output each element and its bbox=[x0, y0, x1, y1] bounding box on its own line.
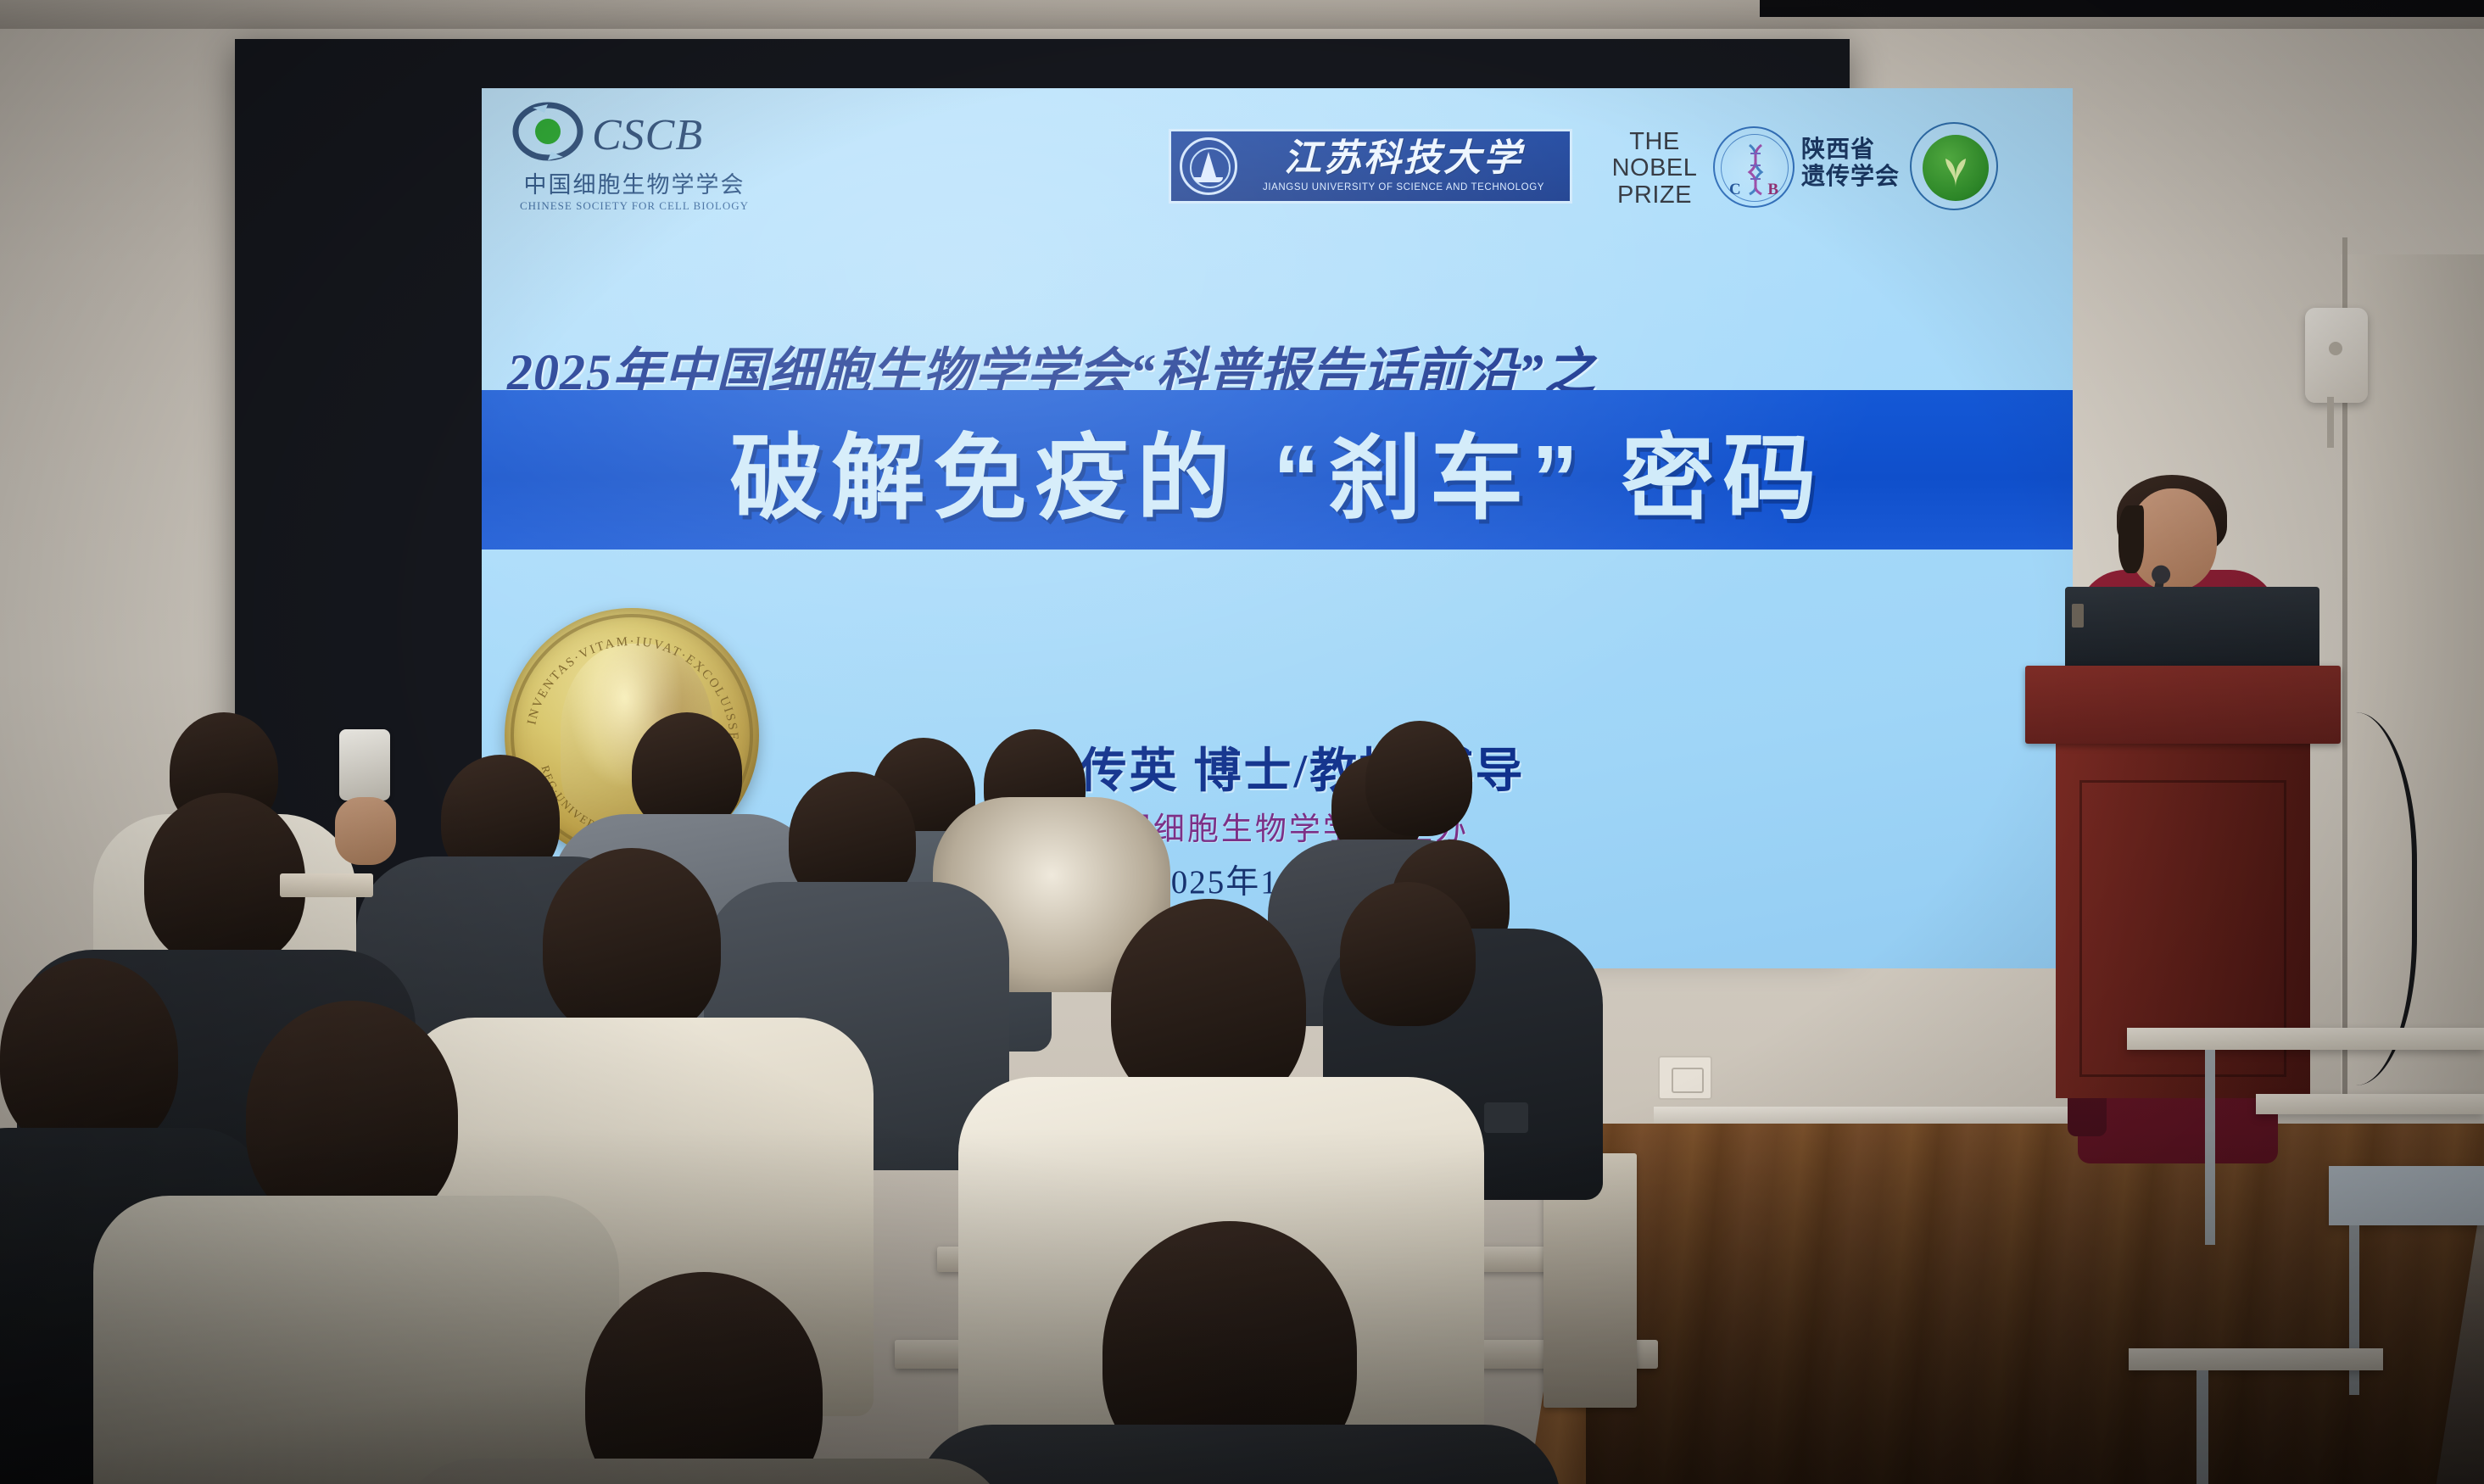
phone-holder-hand bbox=[335, 797, 396, 865]
ceiling-dark-panel bbox=[1760, 0, 2484, 17]
jiangsu-ship-seal-icon bbox=[1180, 137, 1237, 195]
audience-head bbox=[0, 958, 178, 1153]
wall-mounted-speaker-icon bbox=[2305, 308, 2368, 403]
audience-torso-grey bbox=[93, 1196, 619, 1484]
jiangsu-university-logo: 江苏科技大学 JIANGSU UNIVERSITY OF SCIENCE AND… bbox=[1169, 129, 1572, 204]
wheat-leaf-icon bbox=[1941, 152, 1970, 187]
shaanxi-genetics-text: 陕西省 遗传学会 bbox=[1801, 136, 1900, 190]
podium-top bbox=[2025, 666, 2341, 744]
audience-torso-grey bbox=[399, 1459, 1009, 1484]
jiangsu-chinese-name: 江苏科技大学 bbox=[1237, 140, 1570, 177]
nwafu-ring-icon bbox=[1910, 122, 1998, 210]
cscb-logo: CSCB 中国细胞生物学学会 CHINESE SOCIETY FOR CELL … bbox=[507, 98, 762, 213]
lecture-hall-scene: CSCB 中国细胞生物学学会 CHINESE SOCIETY FOR CELL … bbox=[0, 0, 2484, 1484]
slide-title-band: 破解免疫的 “刹车” 密码 bbox=[482, 390, 2073, 550]
nobel-prize-logo: THE NOBEL PRIZE bbox=[1599, 129, 1710, 209]
presenter-hair-side bbox=[2118, 505, 2144, 573]
audience-head bbox=[632, 712, 742, 831]
cscb-letters: CSCB bbox=[592, 110, 703, 160]
presenter-laptop bbox=[2065, 587, 2319, 668]
nobel-line-2: NOBEL bbox=[1599, 155, 1710, 181]
slide-title: 破解免疫的 “刹车” 密码 bbox=[729, 402, 1824, 538]
sail-icon bbox=[1201, 152, 1216, 177]
notebook-on-desk bbox=[280, 873, 373, 897]
nobel-line-3: PRIZE bbox=[1599, 182, 1710, 209]
genetics-seal-letter-c: C bbox=[1729, 181, 1741, 199]
nwafu-core-icon bbox=[1923, 135, 1989, 201]
laptop-port bbox=[2072, 604, 2084, 628]
cscb-chinese-name: 中国细胞生物学学会 bbox=[507, 166, 762, 199]
speaker-mount-arm bbox=[2327, 397, 2334, 448]
audience-torso bbox=[916, 1425, 1560, 1484]
cscb-mark-icon: CSCB bbox=[507, 98, 762, 165]
device-on-bench bbox=[1484, 1102, 1528, 1133]
cscb-english-name: CHINESE SOCIETY FOR CELL BIOLOGY bbox=[507, 199, 762, 213]
audience-head bbox=[543, 848, 721, 1039]
shaanxi-line-1: 陕西省 bbox=[1801, 136, 1900, 163]
shaanxi-line-2: 遗传学会 bbox=[1801, 163, 1900, 190]
raised-phone bbox=[339, 729, 390, 801]
genetics-seal-letter-b: B bbox=[1767, 181, 1778, 199]
audience-head bbox=[1367, 721, 1472, 836]
shaanxi-genetics-society-logo: C B 陕西省 遗传学会 bbox=[1713, 124, 1900, 213]
northwest-agriculture-university-logo bbox=[1910, 122, 1998, 210]
audience-head bbox=[1340, 882, 1476, 1026]
jiangsu-text-block: 江苏科技大学 JIANGSU UNIVERSITY OF SCIENCE AND… bbox=[1237, 140, 1570, 192]
slide-logo-row: CSCB 中国细胞生物学学会 CHINESE SOCIETY FOR CELL … bbox=[482, 88, 2073, 241]
nobel-line-1: THE bbox=[1599, 129, 1710, 155]
audience-area bbox=[0, 746, 2484, 1484]
hull-icon bbox=[1194, 177, 1223, 182]
jiangsu-english-name: JIANGSU UNIVERSITY OF SCIENCE AND TECHNO… bbox=[1237, 182, 1570, 192]
dna-helix-icon bbox=[1745, 143, 1766, 196]
genetics-seal-icon: C B bbox=[1713, 126, 1795, 208]
